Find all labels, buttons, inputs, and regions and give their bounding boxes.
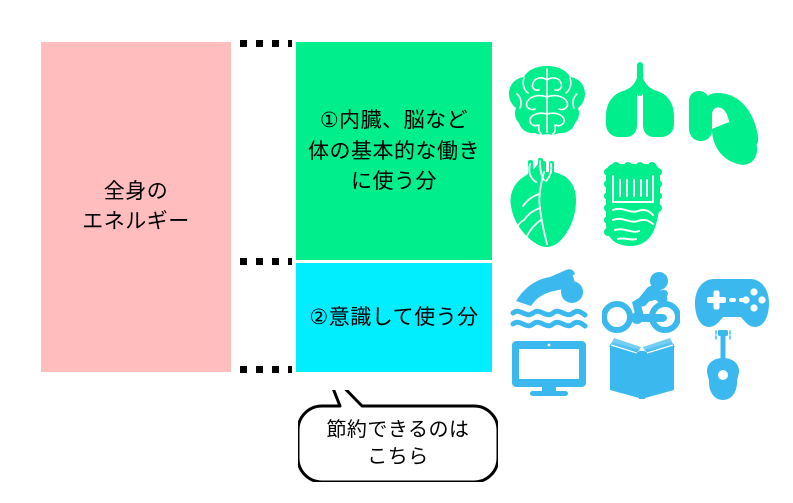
- callout-bubble: 節約できるのは こちら: [298, 390, 498, 482]
- gamepad-icon: [694, 277, 770, 329]
- cyclist-icon: [602, 272, 680, 334]
- basal-energy-bar: ①内臓、脳など 体の基本的な働き に使う分: [296, 42, 492, 260]
- total-energy-label: 全身の エネルギー: [82, 177, 190, 237]
- connector-dotted-bottom: [240, 366, 292, 373]
- stomach-icon: [688, 88, 760, 184]
- monitor-icon: [512, 339, 586, 397]
- connector-dotted-middle: [240, 258, 292, 265]
- lungs-icon: [604, 62, 676, 138]
- connector-dotted-top: [240, 40, 292, 47]
- active-energy-label: ②意識して使う分: [309, 303, 478, 333]
- guitar-icon: [694, 330, 752, 402]
- active-energy-bar: ②意識して使う分: [296, 263, 492, 372]
- basal-energy-label: ①内臓、脳など 体の基本的な働き に使う分: [308, 105, 480, 196]
- intestines-icon: [604, 162, 670, 248]
- open-book-icon: [606, 338, 678, 400]
- callout-text: 節約できるのは こちら: [298, 416, 498, 470]
- heart-icon: [508, 158, 582, 252]
- diagram-canvas: 全身の エネルギー ①内臓、脳など 体の基本的な働き に使う分 ②意識して使う分…: [0, 0, 793, 503]
- swimmer-icon: [510, 268, 588, 332]
- total-energy-bar: 全身の エネルギー: [41, 42, 231, 372]
- brain-icon: [508, 64, 586, 136]
